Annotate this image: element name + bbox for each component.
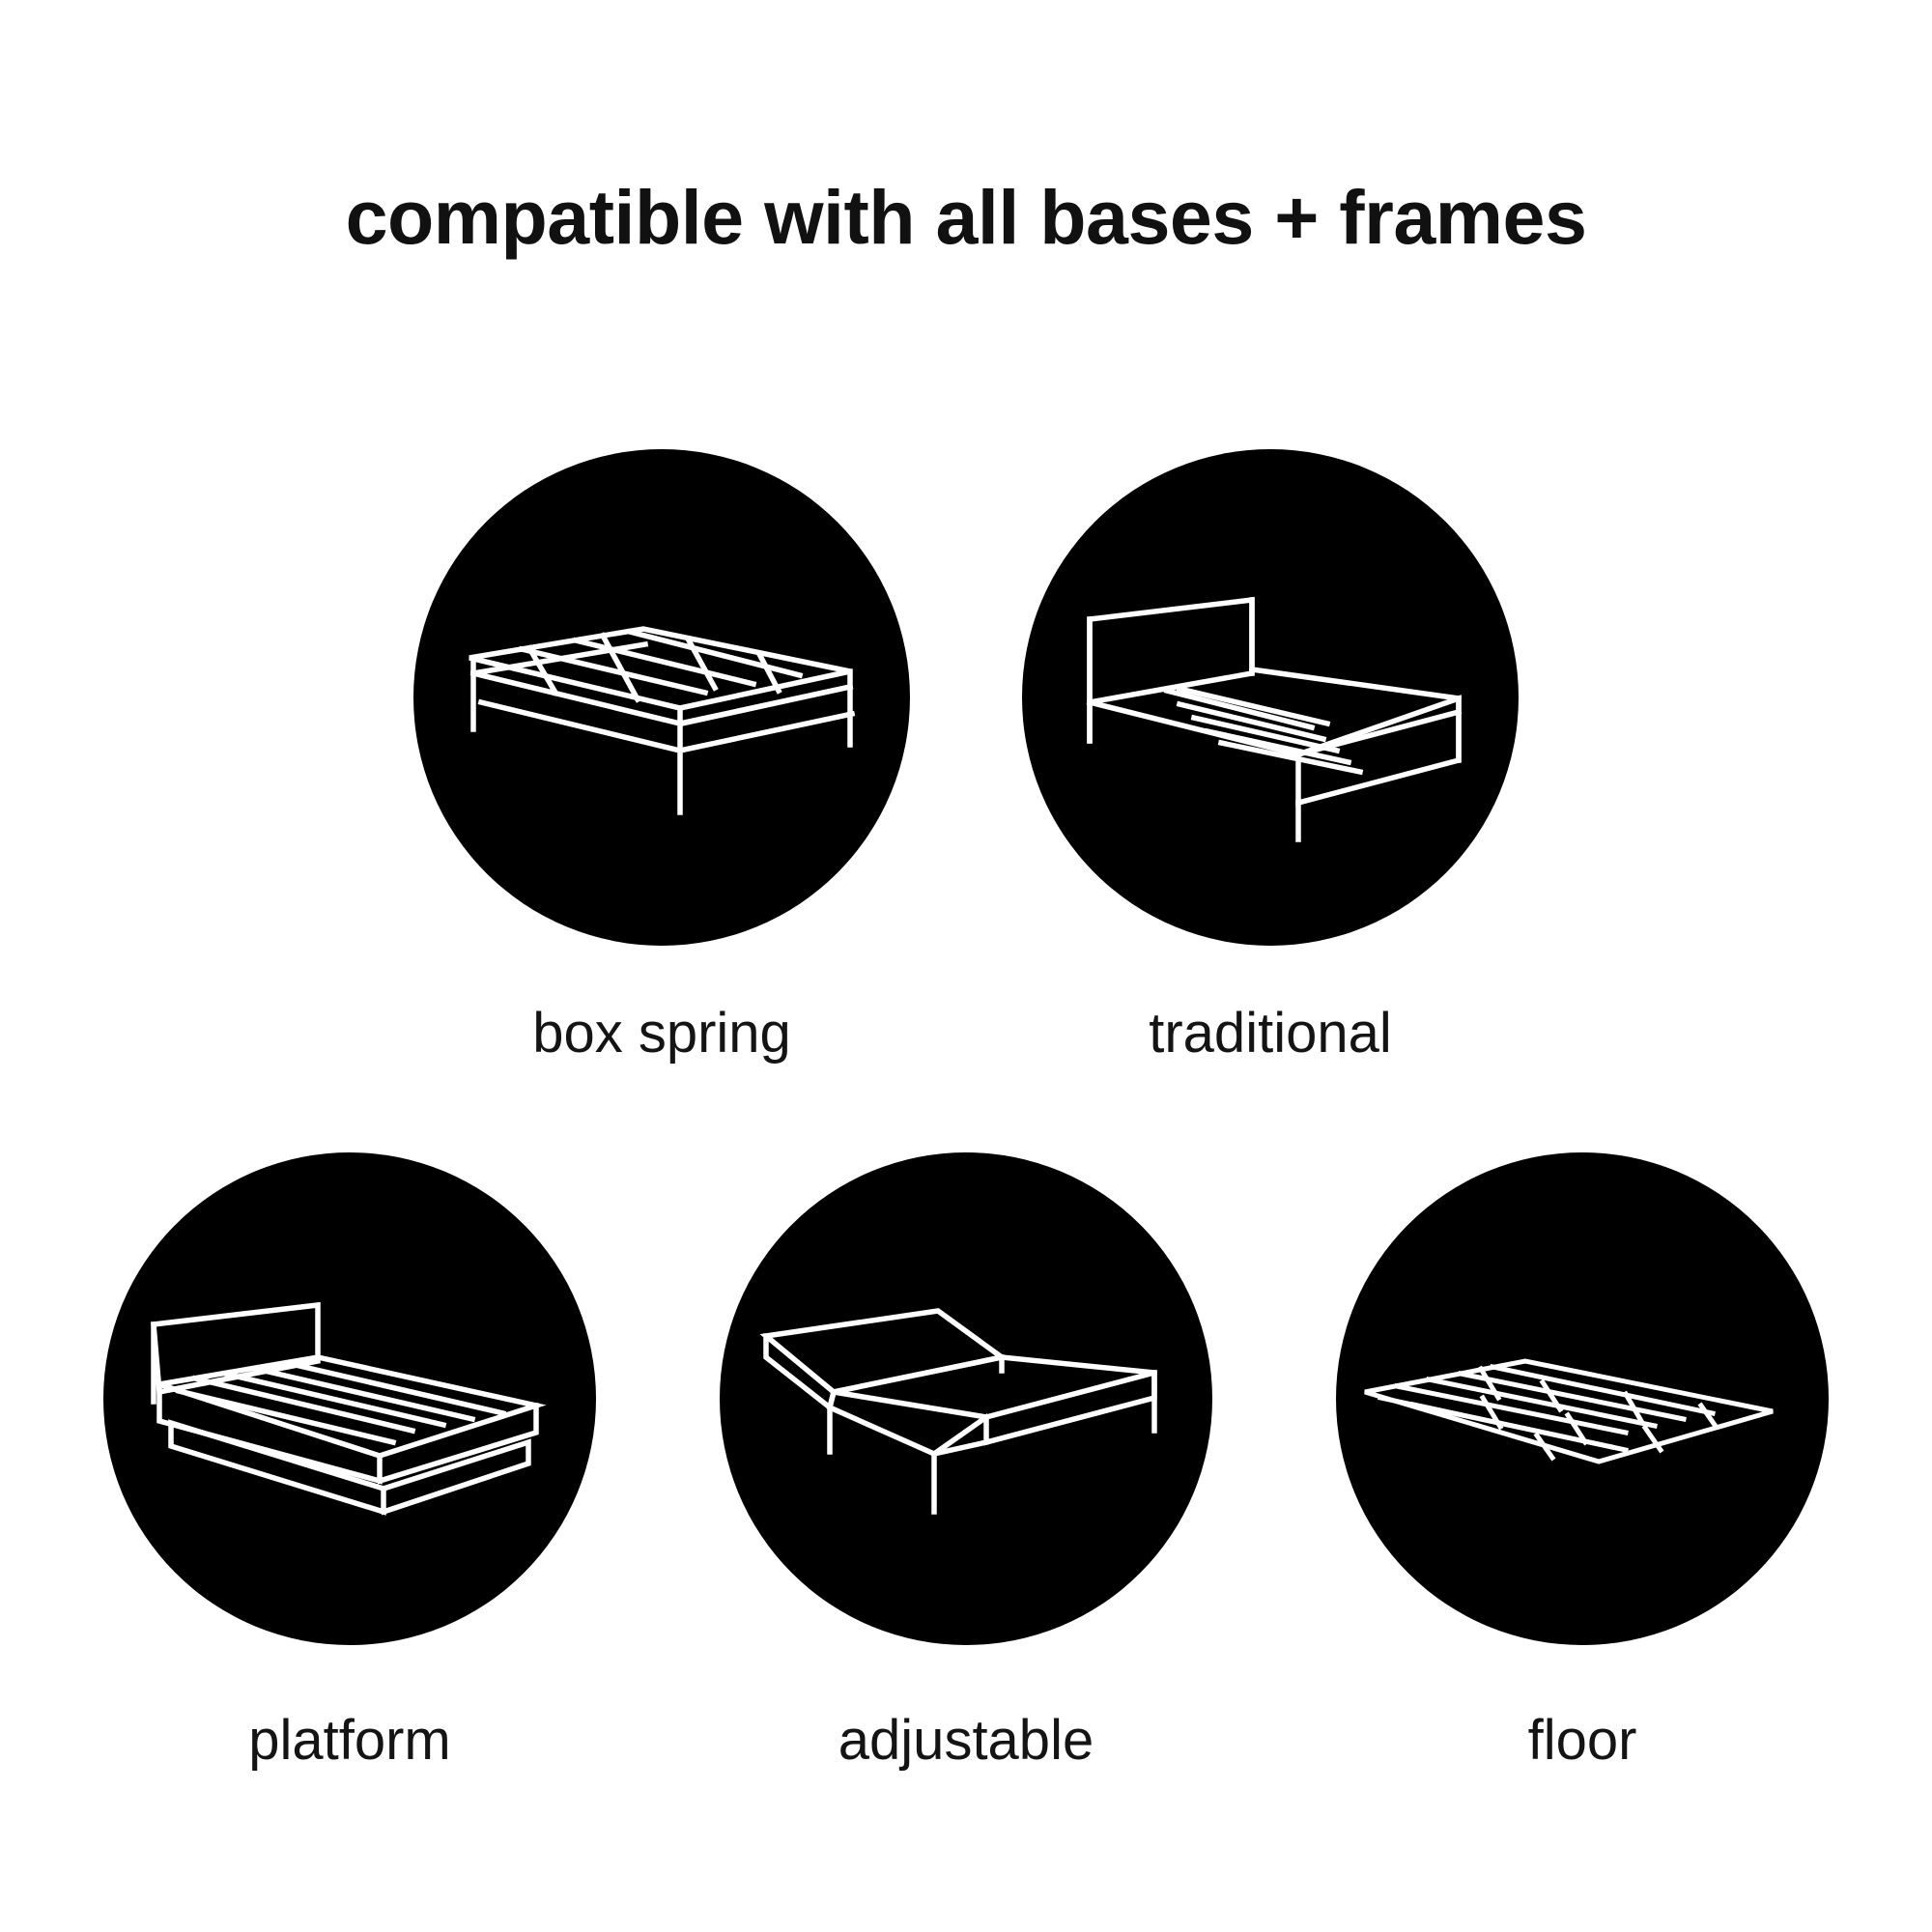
box-spring-badge: [413, 449, 910, 946]
item-label: platform: [248, 1713, 451, 1769]
adjustable-base-icon: [720, 1152, 1212, 1645]
compatibility-item-box-spring: box spring: [413, 449, 910, 1062]
compatibility-row-1: box spring: [0, 449, 1932, 1062]
box-spring-bed-icon: [413, 449, 910, 946]
item-label: traditional: [1149, 1006, 1391, 1062]
item-label: floor: [1528, 1713, 1637, 1769]
platform-bed-icon: [103, 1152, 596, 1645]
floor-icon: [1336, 1152, 1829, 1645]
page-title: compatible with all bases + frames: [0, 176, 1932, 258]
infographic-root: compatible with all bases + frames: [0, 0, 1932, 1932]
compatibility-item-adjustable: adjustable: [720, 1152, 1212, 1769]
compatibility-item-platform: platform: [103, 1152, 596, 1769]
floor-badge: [1336, 1152, 1829, 1645]
compatibility-item-floor: floor: [1336, 1152, 1829, 1769]
traditional-badge: [1022, 449, 1519, 946]
adjustable-badge: [720, 1152, 1212, 1645]
platform-badge: [103, 1152, 596, 1645]
traditional-bed-frame-icon: [1022, 449, 1519, 946]
compatibility-item-traditional: traditional: [1022, 449, 1519, 1062]
compatibility-row-2: platform: [0, 1152, 1932, 1769]
item-label: adjustable: [838, 1713, 1094, 1769]
item-label: box spring: [532, 1006, 791, 1062]
